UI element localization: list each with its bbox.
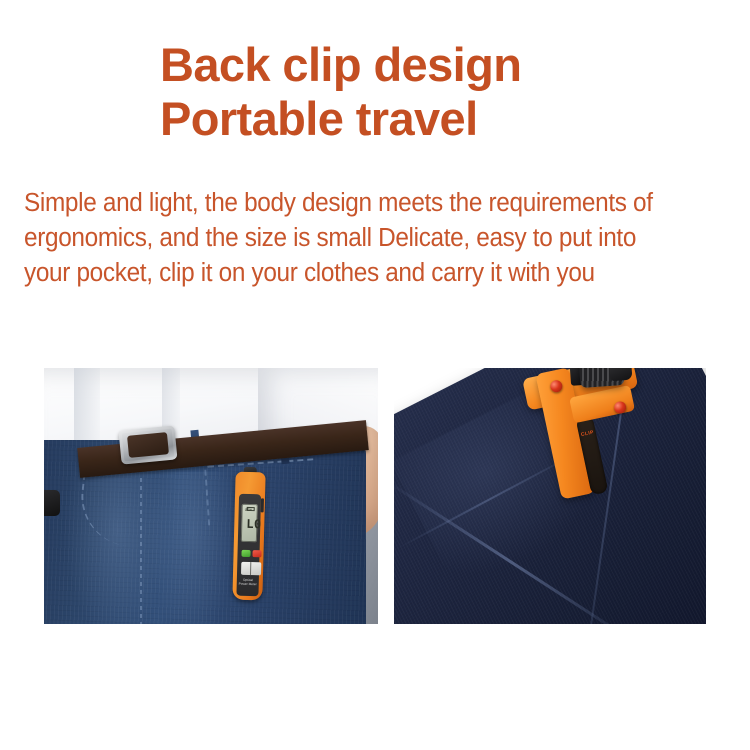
red-button[interactable] [252,550,261,557]
wrist-watch [44,490,60,516]
lcd-battery-icon [247,507,255,511]
photo-row: dBm L0 Optical Power Meter [0,368,750,624]
device-front-panel: dBm L0 Optical Power Meter [236,494,261,597]
description-paragraph: Simple and light, the body design meets … [24,186,702,291]
page-title: Back clip design Portable travel [160,38,720,146]
grey-button-pad[interactable] [241,562,261,576]
device-label-line-2: Power Meter [239,582,257,586]
page-title-line-1: Back clip design [160,38,720,92]
product-feature-page: Back clip design Portable travel Simple … [0,0,750,750]
belt-buckle-inner [127,432,169,458]
navy-photo-canvas: CLIP [394,368,706,624]
device-brand-label: Optical Power Meter [237,578,259,587]
description-line-3: your pocket, clip it on your clothes and… [24,256,702,291]
page-title-line-2: Portable travel [160,92,720,146]
device-lcd-screen: dBm L0 [241,504,258,542]
photo-clip-on-pocket: CLIP [394,368,706,624]
description-line-1: Simple and light, the body design meets … [24,186,702,221]
green-button[interactable] [241,550,250,557]
optical-power-meter-device: dBm L0 Optical Power Meter [232,472,265,601]
lcd-reading: L0 [246,517,262,531]
belt-buckle [118,425,177,464]
clip-slot-window: CLIP [576,415,609,495]
device-side-strip [261,498,264,512]
jeans-centre-seam [140,478,142,624]
photo-man-with-clipped-meter: dBm L0 Optical Power Meter [44,368,378,624]
clip-slot-label: CLIP [578,429,596,439]
description-line-2: ergonomics, and the size is small Delica… [24,221,702,256]
